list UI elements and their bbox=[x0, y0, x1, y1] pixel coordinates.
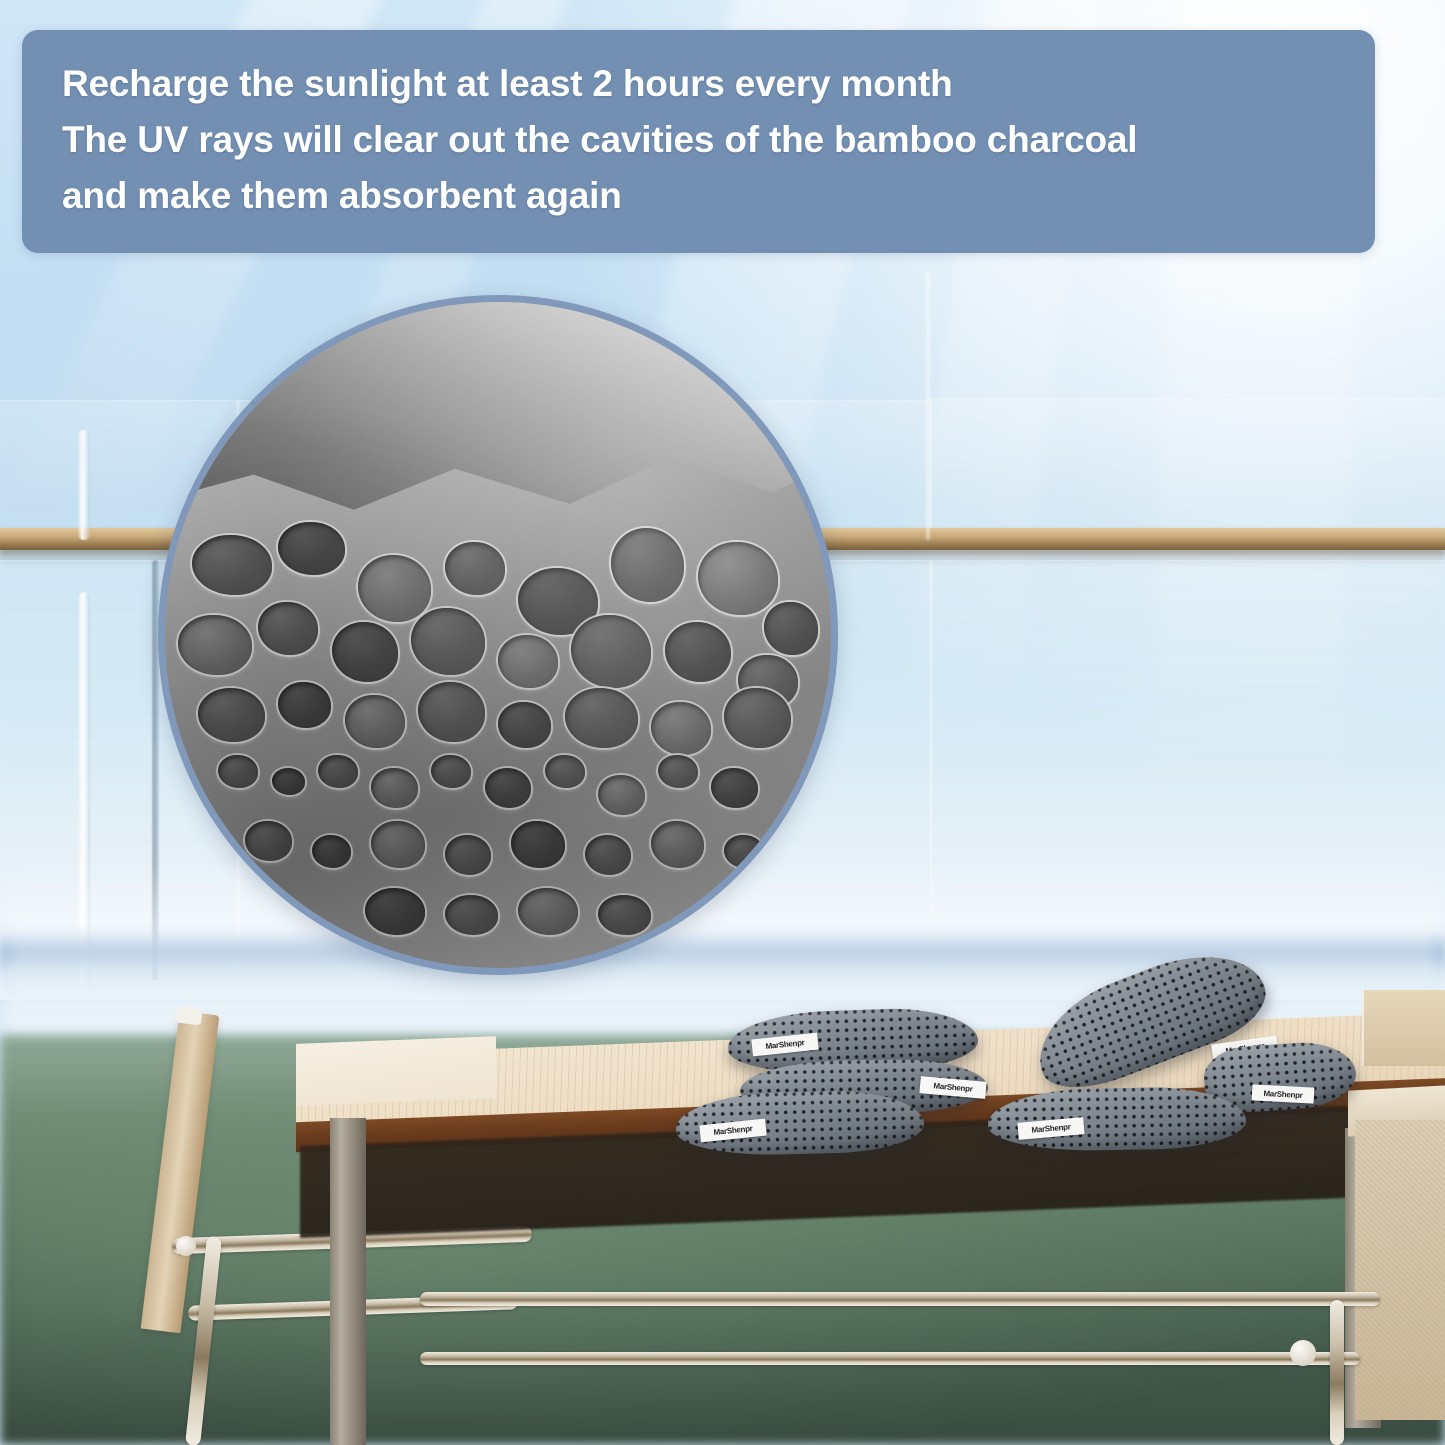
banner-line-1: Recharge the sunlight at least 2 hours e… bbox=[62, 56, 1335, 112]
banner-line-2: The UV rays will clear out the cavities … bbox=[62, 112, 1335, 168]
table-leg bbox=[330, 1118, 366, 1445]
chair-right-back-panel bbox=[1355, 1120, 1445, 1420]
bamboo-charcoal-sem-inset bbox=[158, 295, 838, 975]
railing-post bbox=[78, 430, 90, 540]
chair-right-knob bbox=[1290, 1340, 1316, 1366]
chair-left-knob bbox=[176, 1236, 196, 1256]
glass-railing-panel bbox=[930, 398, 1445, 537]
right-box bbox=[1362, 990, 1445, 1066]
glass-seam bbox=[926, 270, 930, 540]
chair-right-frame-tube bbox=[420, 1292, 1380, 1306]
table-top-plank bbox=[296, 1036, 496, 1106]
instruction-banner: Recharge the sunlight at least 2 hours e… bbox=[22, 30, 1375, 253]
brand-label: MarShenpr bbox=[1252, 1084, 1315, 1103]
chair-right-frame-tube bbox=[420, 1352, 1360, 1365]
product-marketing-image: MarShenpr MarShenpr MarShenpr MarShenpr … bbox=[0, 0, 1445, 1445]
chair-right-frame-tube bbox=[1330, 1300, 1344, 1445]
banner-line-3: and make them absorbent again bbox=[62, 168, 1335, 224]
